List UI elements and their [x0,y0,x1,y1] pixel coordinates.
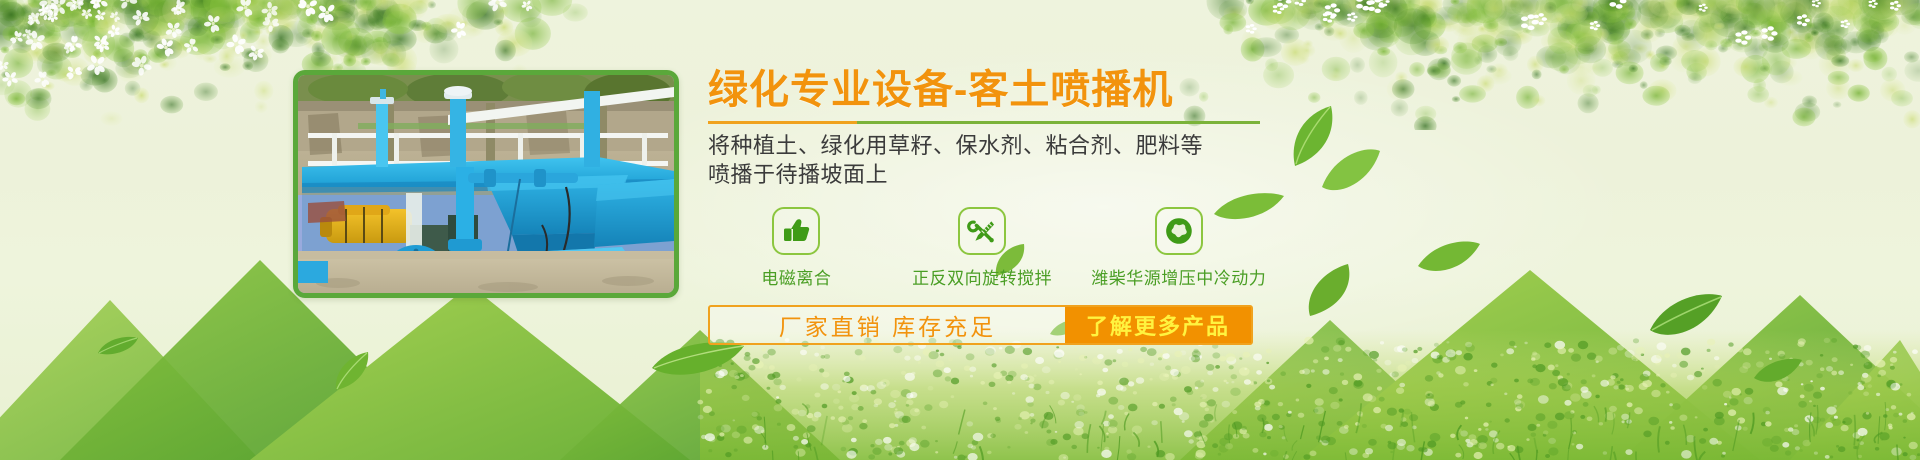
feature-label: 正反双向旋转搅拌 [912,264,1052,289]
thumbs-up-icon [772,207,820,255]
cta-slogan: 厂家直销 库存充足 [710,307,1065,343]
learn-more-button[interactable]: 了解更多产品 [1065,307,1251,343]
wrench-screwdriver-icon [958,207,1006,255]
page-title: 绿化专业设备-客土喷播机 [708,68,1278,113]
banner-content: 绿化专业设备-客土喷播机 将种植土、绿化用草籽、保水剂、粘合剂、肥料等 喷播于待… [708,68,1278,345]
feature-label: 潍柴华源增压中冷动力 [1091,264,1266,289]
feature-item-electromagnetic-clutch[interactable]: 电磁离合 [708,207,885,289]
subtitle-line-2: 喷播于待播坡面上 [708,160,1278,189]
promo-banner: 绿化专业设备-客土喷播机 将种植土、绿化用草籽、保水剂、粘合剂、肥料等 喷播于待… [0,0,1920,460]
cta-bar: 厂家直销 库存充足 了解更多产品 [708,305,1253,345]
engine-ring-icon [1155,207,1203,255]
feature-item-weichai-power[interactable]: 潍柴华源增压中冷动力 [1079,207,1278,289]
hydroseeder-machine-photo [298,75,674,293]
title-divider [708,121,1260,124]
feature-list: 电磁离合 [708,207,1278,289]
feature-item-bidirectional-mixing[interactable]: 正反双向旋转搅拌 [885,207,1080,289]
product-photo-card[interactable] [293,70,679,298]
subtitle-line-1: 将种植土、绿化用草籽、保水剂、粘合剂、肥料等 [708,131,1278,160]
feature-label: 电磁离合 [761,264,831,289]
